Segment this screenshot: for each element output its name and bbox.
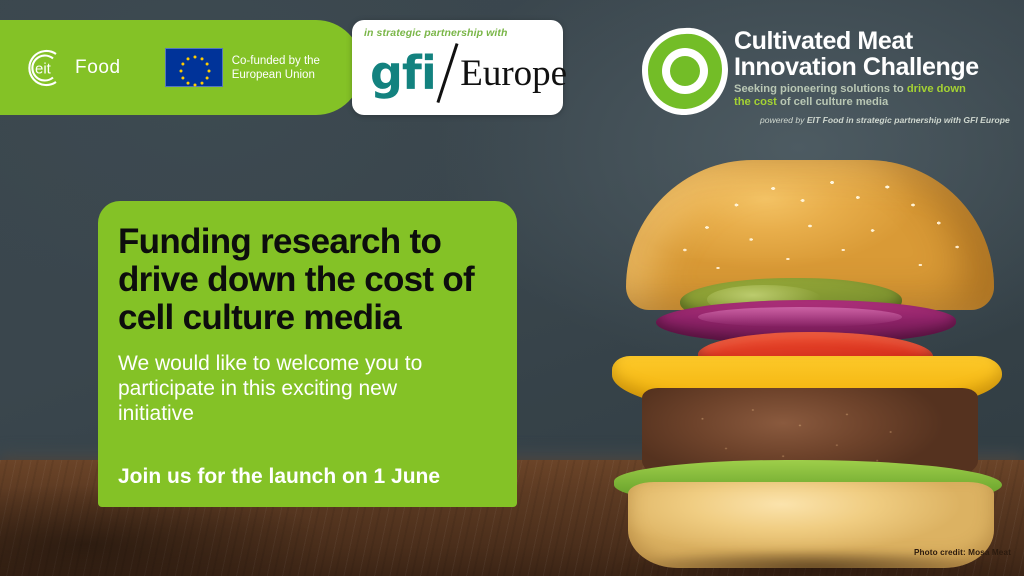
card-subtitle: We would like to welcome you to particip… <box>118 351 470 426</box>
challenge-logo-lockup: Cultivated Meat Innovation Challenge See… <box>638 22 1018 122</box>
challenge-text-block: Cultivated Meat Innovation Challenge See… <box>734 28 1018 125</box>
challenge-tagline-part-1: Seeking pioneering solutions to <box>734 83 907 95</box>
powered-prefix: powered by <box>760 115 807 125</box>
photo-credit-label: Photo credit: Mosa Meat <box>914 548 1011 557</box>
challenge-tagline-highlight-2: the cost <box>734 96 777 108</box>
card-call-to-action: Join us for the launch on 1 June <box>118 464 517 489</box>
gfi-europe-wordmark: Europe <box>460 55 567 92</box>
eit-food-logo: eit Food <box>22 46 121 90</box>
gfi-europe-logo: gfi Europe <box>370 42 567 104</box>
partner-logo-bar: eit Food <box>0 20 362 115</box>
eu-funding-badge: Co-funded by the European Union <box>165 48 320 87</box>
gfi-strapline: in strategic partnership with <box>364 27 508 39</box>
cultivated-meat-cell-logo-icon <box>638 24 732 118</box>
gfi-wordmark: gfi <box>370 50 436 96</box>
gfi-europe-panel: in strategic partnership with gfi Europe <box>352 20 563 115</box>
card-headline: Funding research to drive down the cost … <box>118 223 490 337</box>
challenge-tagline-part-2: of cell culture media <box>777 96 888 108</box>
challenge-title-line-2: Innovation Challenge <box>734 54 1018 80</box>
challenge-tagline: Seeking pioneering solutions to drive do… <box>734 83 1018 109</box>
challenge-tagline-highlight-1: drive down <box>907 83 966 95</box>
challenge-powered-by: powered by EIT Food in strategic partner… <box>734 115 1018 125</box>
powered-emphasis: EIT Food in strategic partnership with G… <box>807 115 1010 125</box>
gfi-divider-slash <box>436 43 458 103</box>
challenge-title-line-1: Cultivated Meat <box>734 28 1018 54</box>
main-message-card: Funding research to drive down the cost … <box>98 201 517 507</box>
burger-image <box>598 160 1018 490</box>
european-union-flag-icon <box>165 48 223 87</box>
svg-text:eit: eit <box>35 60 52 77</box>
eit-circle-logo-icon: eit <box>22 46 66 90</box>
eu-funding-label: Co-funded by the European Union <box>232 54 320 82</box>
eit-food-wordmark: Food <box>75 57 121 79</box>
